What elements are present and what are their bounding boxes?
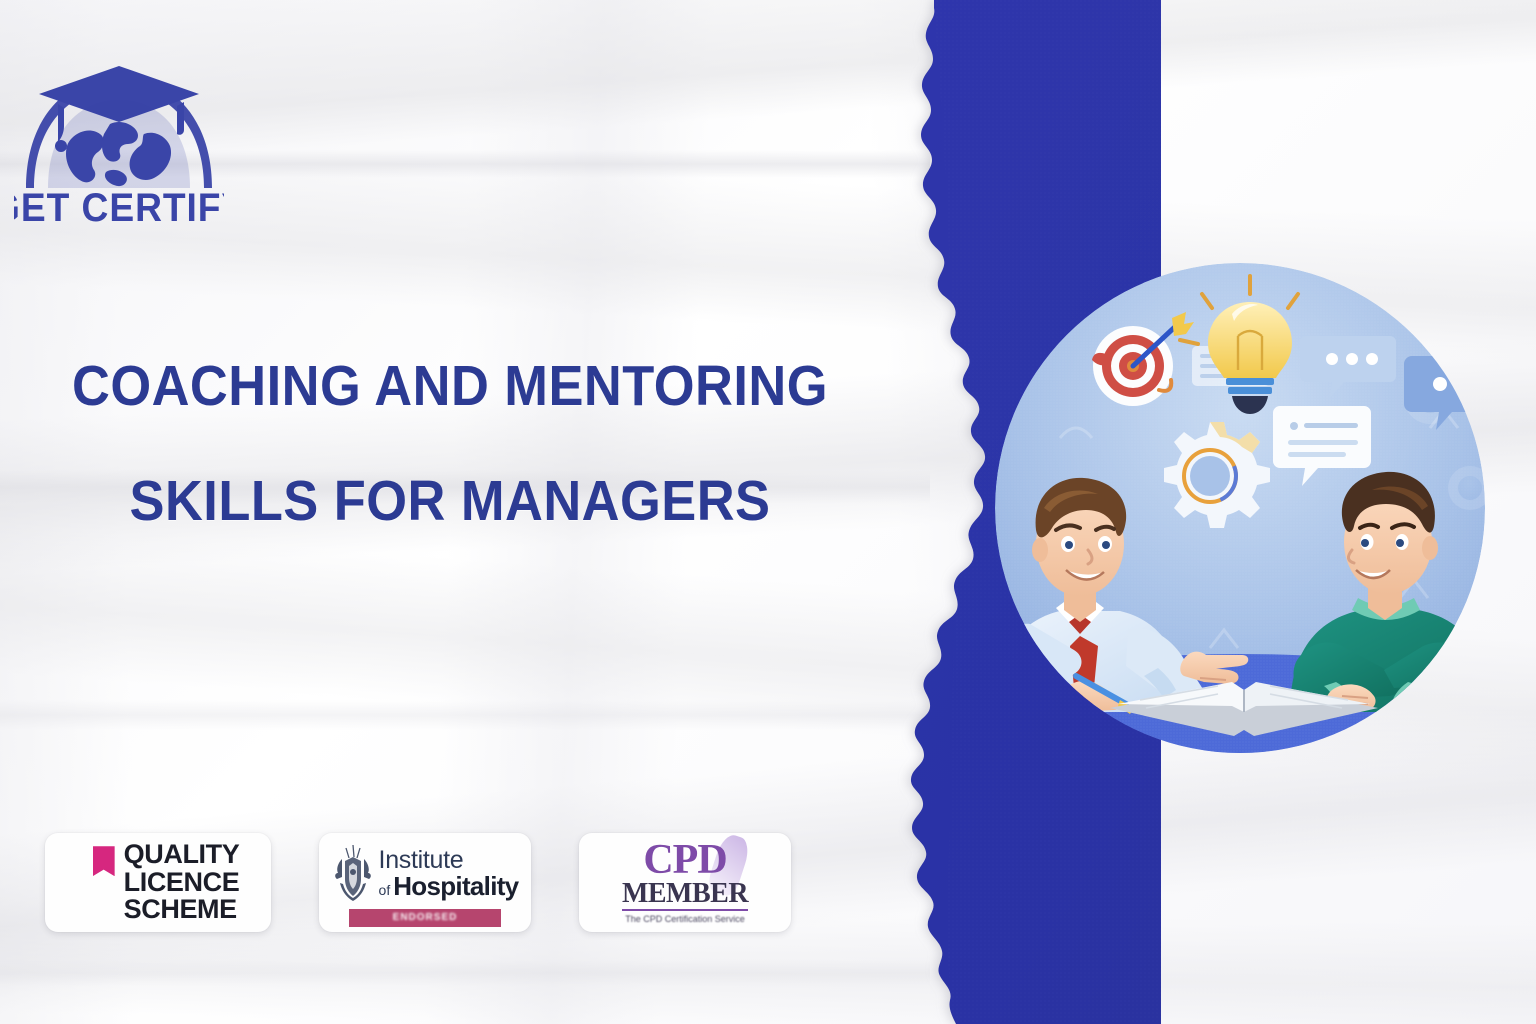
ioh-of-text: of [379, 883, 391, 897]
qls-line-1: QUALITY [124, 841, 240, 869]
qls-line-2: LICENCE [124, 869, 240, 897]
paper-crease [0, 960, 930, 986]
page-title: COACHING AND MENTORING SKILLS FOR MANAGE… [0, 358, 900, 530]
headline-line-2: SKILLS FOR MANAGERS [36, 473, 864, 530]
get-certify-logo[interactable]: GET CERTIFY [14, 38, 224, 228]
cpd-letters-text: CPD [643, 841, 726, 880]
logo-text: GET CERTIFY [14, 186, 224, 228]
gear-icon [1164, 422, 1270, 528]
ioh-endorsed-banner: ENDORSED [349, 909, 501, 927]
cpd-member-text: MEMBER [622, 880, 748, 911]
headline-line-1: COACHING AND MENTORING [36, 358, 864, 415]
course-banner: GET CERTIFY COACHING AND MENTORING SKILL… [0, 0, 1536, 1024]
badge-cpd-member[interactable]: CPD MEMBER The CPD Certification Service [579, 833, 791, 932]
badge-quality-licence-scheme[interactable]: QUALITY LICENCE SCHEME [45, 833, 271, 932]
bookmark-ribbon-icon [93, 846, 115, 876]
ioh-hospitality-text: Hospitality [393, 873, 518, 899]
ioh-endorsed-text: ENDORSED [393, 912, 458, 923]
mentoring-session-illustration [960, 258, 1520, 758]
ioh-institute-text: Institute [379, 848, 519, 873]
paper-crease [0, 700, 930, 730]
badge-institute-of-hospitality[interactable]: Institute of Hospitality ENDORSED [319, 833, 531, 932]
heraldic-crest-icon [332, 843, 374, 905]
illustration-circle [950, 263, 1530, 766]
qls-line-3: SCHEME [124, 896, 240, 924]
accreditation-badges: QUALITY LICENCE SCHEME [45, 833, 791, 932]
cpd-subtitle-text: The CPD Certification Service [620, 914, 750, 924]
